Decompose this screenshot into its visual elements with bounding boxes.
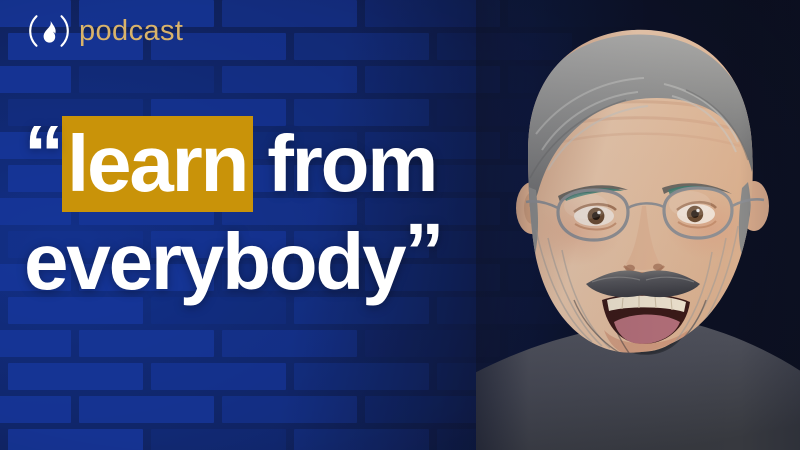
headline-quote: “ learn from everybody ” xyxy=(24,116,584,310)
brand-logo: podcast xyxy=(26,14,183,48)
highlight-word-learn: learn xyxy=(62,116,253,212)
close-quote-mark: ” xyxy=(404,204,442,300)
headline-line-1: “ learn from xyxy=(24,116,584,212)
thumbnail-canvas: podcast “ learn from everybody ” xyxy=(0,0,800,450)
flame-in-parentheses-icon xyxy=(26,14,72,48)
headline-word-from: from xyxy=(267,116,436,212)
headline-word-everybody: everybody xyxy=(24,214,404,310)
logo-wordmark: podcast xyxy=(79,17,183,46)
open-quote-mark: “ xyxy=(24,106,62,202)
headline-line-2: everybody ” xyxy=(24,214,584,310)
